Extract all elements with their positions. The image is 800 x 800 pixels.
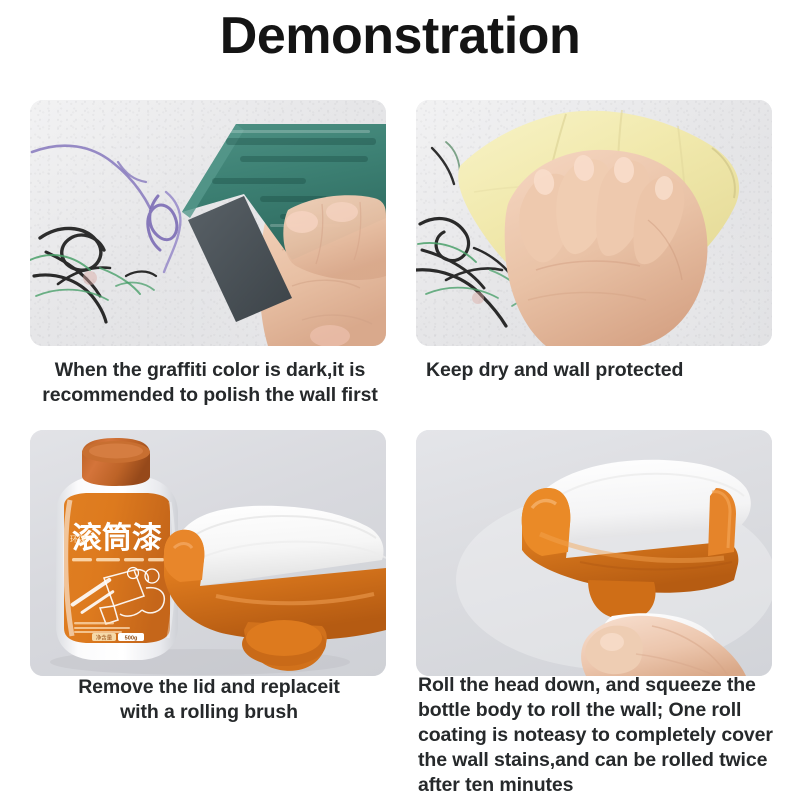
caption-line: Remove the lid and replaceit (34, 675, 384, 700)
label-feature-line (72, 558, 164, 561)
hand-wiping (505, 150, 708, 346)
caption-line: coating is noteasy to completely cover (418, 723, 774, 748)
step-caption-4: Roll the head down, and squeeze the bott… (418, 673, 774, 798)
roller-head-attachment (164, 506, 386, 671)
step-caption-2: Keep dry and wall protected (426, 358, 770, 383)
caption-line: bottle body to roll the wall; One roll (418, 698, 774, 723)
graffiti-marks (30, 146, 180, 322)
roller-right-cap (708, 488, 736, 556)
step-card-2: Keep dry and wall protected (416, 100, 772, 346)
step-card-4: Roll the head down, and squeeze the bott… (416, 430, 772, 676)
bottle-and-roller-illustration: 滚筒漆 环保 (30, 430, 386, 676)
step-card-1: When the graffiti color is dark,it is re… (30, 100, 386, 346)
wiping-scene-illustration (416, 100, 772, 346)
label-tagline: 环保 (70, 534, 86, 544)
photo-bottle-and-roller: 滚筒漆 环保 (30, 430, 386, 676)
caption-line: Roll the head down, and squeeze the (418, 673, 774, 698)
sanding-scene-illustration (30, 100, 386, 346)
badge-weight-text: 500g (125, 636, 138, 642)
caption-line: the wall stains,and can be rolled twice (418, 748, 774, 773)
caption-line: When the graffiti color is dark,it is (38, 358, 382, 383)
caption-line: after ten minutes (418, 773, 774, 798)
step-caption-1: When the graffiti color is dark,it is re… (38, 358, 382, 408)
photo-wiping-cloth (416, 100, 772, 346)
caption-line: Keep dry and wall protected (426, 358, 770, 383)
page-title: Demonstration (0, 8, 800, 65)
badge-left-text: 净含量 (96, 634, 113, 642)
photo-sanding-wall (30, 100, 386, 346)
fingers-on-block (283, 195, 386, 280)
step-caption-3: Remove the lid and replaceit with a roll… (34, 675, 384, 725)
rolling-scene-illustration (416, 430, 772, 676)
caption-line: with a rolling brush (34, 700, 384, 725)
paint-bottle: 滚筒漆 环保 (56, 438, 178, 660)
caption-line: recommended to polish the wall first (38, 383, 382, 408)
photo-rolling-wall (416, 430, 772, 676)
step-card-3: 滚筒漆 环保 (30, 430, 386, 676)
